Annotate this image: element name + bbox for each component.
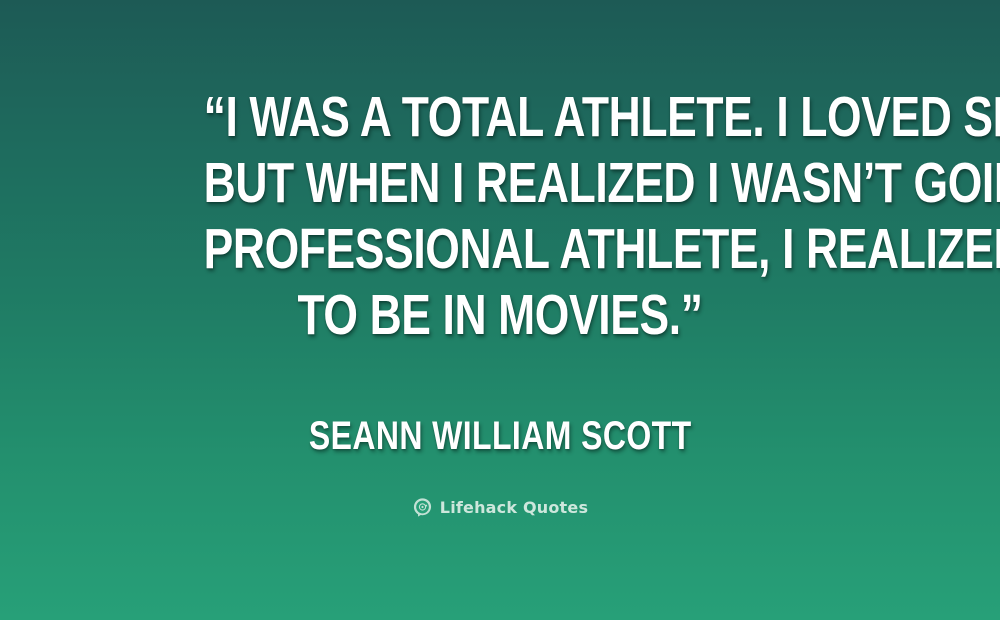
quote-line-4: TO BE IN MOVIES.” — [204, 282, 797, 348]
lifehack-pin-logo-icon — [412, 497, 433, 518]
quote-text-block: “I WAS A TOTAL ATHLETE. I LOVED SPORTS, … — [120, 84, 880, 348]
quote-line-1: “I WAS A TOTAL ATHLETE. I LOVED SPORTS, — [204, 84, 797, 150]
quote-card: “I WAS A TOTAL ATHLETE. I LOVED SPORTS, … — [0, 0, 1000, 620]
brand-name: Lifehack Quotes — [440, 498, 588, 517]
quote-line-3: PROFESSIONAL ATHLETE, I REALIZED I WANTE… — [204, 216, 797, 282]
quote-author: SEANN WILLIAM SCOTT — [309, 414, 692, 458]
quote-line-2: BUT WHEN I REALIZED I WASN’T GOING TO BE… — [204, 150, 797, 216]
footer-brand: Lifehack Quotes — [0, 497, 1000, 518]
